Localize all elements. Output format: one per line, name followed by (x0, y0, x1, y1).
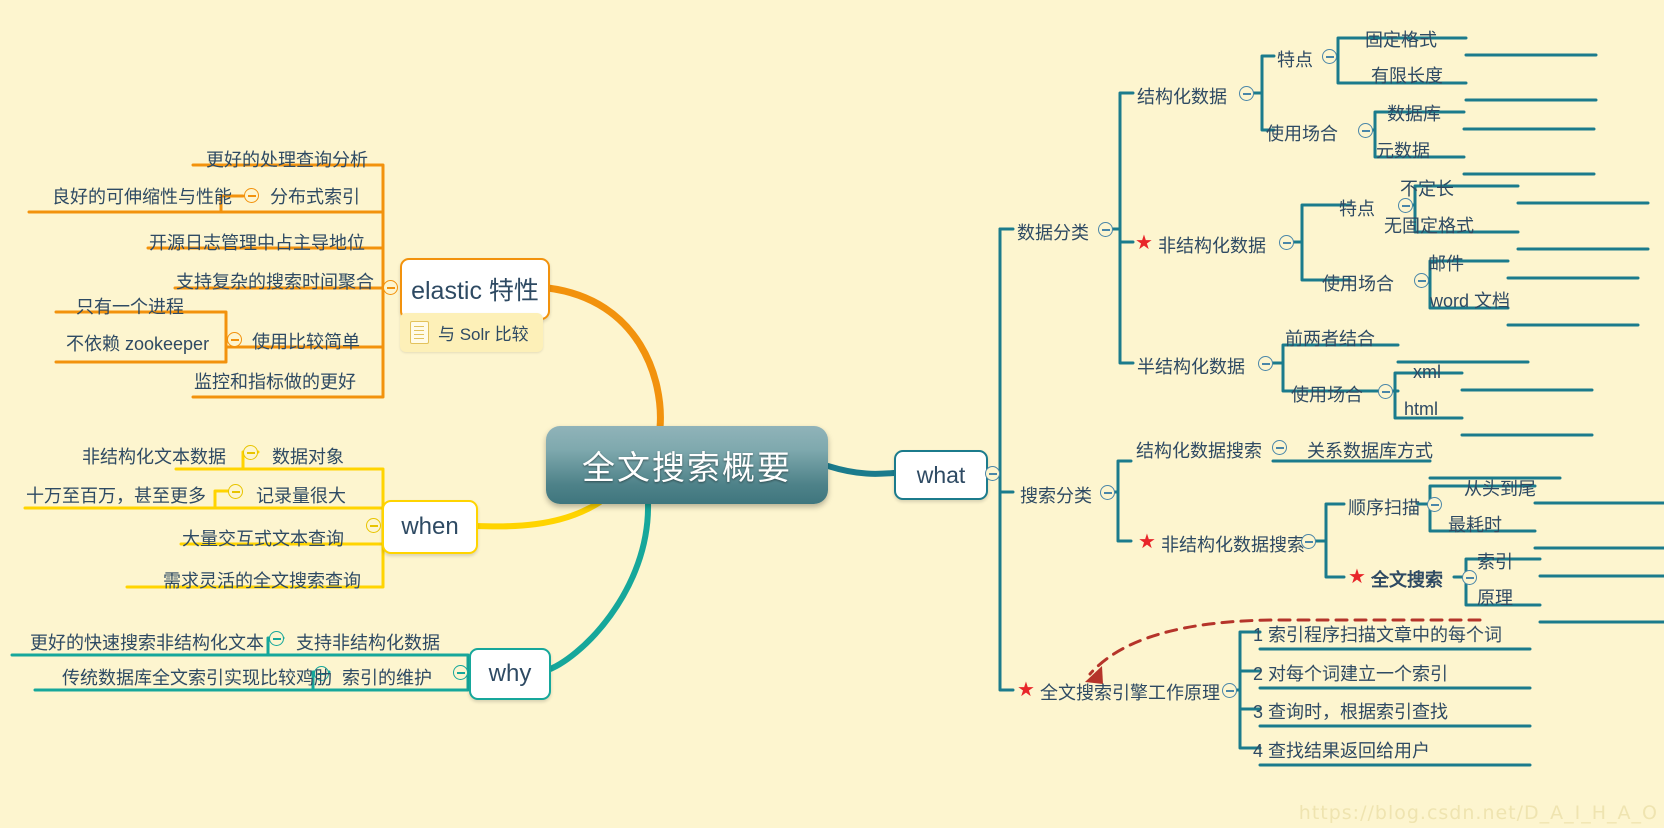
toggle-sequential-scan[interactable] (1427, 497, 1442, 512)
node-unstructured-search[interactable]: 非结构化数据搜索 (1161, 531, 1305, 557)
star-icon-unstructured-search: ★ (1138, 532, 1156, 552)
node-what[interactable]: what (894, 450, 988, 500)
node-index[interactable]: 索引 (1477, 548, 1513, 574)
node-semi-structured-data[interactable]: 半结构化数据 (1137, 353, 1245, 379)
toggle-when[interactable] (366, 518, 381, 533)
node-fulltext-search[interactable]: 全文搜索 (1371, 566, 1443, 592)
toggle-semi-structured-data[interactable] (1258, 356, 1273, 371)
node-why-child-1[interactable]: 索引的维护 (342, 664, 432, 690)
node-why-child-1-sub-0[interactable]: 传统数据库全文索引实现比较鸡肋 (62, 664, 332, 690)
node-search-classification[interactable]: 搜索分类 (1020, 482, 1092, 508)
toggle-why[interactable] (453, 665, 468, 680)
node-metadata[interactable]: 元数据 (1376, 137, 1430, 163)
star-icon-engine-principle: ★ (1017, 680, 1035, 700)
node-head-to-tail[interactable]: 从头到尾 (1464, 475, 1536, 501)
node-when-child-0-sub-0[interactable]: 非结构化文本数据 (82, 443, 226, 469)
toggle-what[interactable] (985, 466, 1000, 481)
toggle-support-unstructured[interactable] (269, 631, 284, 646)
node-database[interactable]: 数据库 (1387, 100, 1441, 126)
note-compare-solr[interactable]: 与 Solr 比较 (400, 313, 543, 352)
node-when-child-3[interactable]: 需求灵活的全文搜索查询 (163, 567, 361, 593)
watermark: https://blog.csdn.net/D_A_I_H_A_O (1299, 802, 1658, 824)
node-most-time-consuming[interactable]: 最耗时 (1448, 511, 1502, 537)
node-when-child-2[interactable]: 大量交互式文本查询 (182, 525, 344, 551)
node-unstructured-scenario[interactable]: 使用场合 (1322, 270, 1394, 296)
note-compare-solr-label: 与 Solr 比较 (438, 320, 529, 345)
node-why[interactable]: why (469, 648, 551, 700)
toggle-semi-scenario[interactable] (1378, 384, 1393, 399)
star-icon-fulltext-search: ★ (1348, 567, 1366, 587)
star-icon-unstructured-data: ★ (1135, 233, 1153, 253)
node-structured-feature[interactable]: 特点 (1277, 46, 1313, 72)
toggle-data-object[interactable] (243, 445, 258, 460)
root-label: 全文搜索概要 (582, 441, 792, 489)
toggle-unstructured-search[interactable] (1301, 534, 1316, 549)
node-unstructured-feature[interactable]: 特点 (1339, 195, 1375, 221)
node-unstructured-data[interactable]: 非结构化数据 (1158, 232, 1266, 258)
toggle-unstructured-scenario[interactable] (1414, 273, 1429, 288)
toggle-distributed-index[interactable] (244, 188, 259, 203)
node-limited-length[interactable]: 有限长度 (1371, 62, 1443, 88)
node-elastic-child-3[interactable]: 支持复杂的搜索时间聚合 (176, 268, 374, 294)
root-node[interactable]: 全文搜索概要 (546, 426, 828, 504)
node-why-child-0[interactable]: 支持非结构化数据 (296, 629, 440, 655)
node-step-2[interactable]: 2 对每个词建立一个索引 (1253, 660, 1448, 686)
node-elastic-feature-label: elastic 特性 (411, 271, 539, 307)
node-sequential-scan[interactable]: 顺序扫描 (1348, 494, 1420, 520)
node-elastic-child-5[interactable]: 监控和指标做的更好 (194, 368, 356, 394)
node-why-child-0-sub-0[interactable]: 更好的快速搜索非结构化文本 (30, 629, 264, 655)
node-elastic-child-1[interactable]: 分布式索引 (270, 183, 360, 209)
node-engine-working-principle[interactable]: 全文搜索引擎工作原理 (1040, 679, 1220, 705)
node-step-3[interactable]: 3 查询时，根据索引查找 (1253, 698, 1448, 724)
toggle-elastic[interactable] (383, 280, 398, 295)
toggle-unstructured-data[interactable] (1279, 235, 1294, 250)
document-icon (410, 321, 429, 344)
node-what-label: what (917, 462, 966, 489)
node-when[interactable]: when (382, 500, 478, 554)
node-elastic-child-4[interactable]: 使用比较简单 (252, 328, 360, 354)
toggle-data-classification[interactable] (1098, 222, 1113, 237)
toggle-record-volume[interactable] (228, 484, 243, 499)
toggle-structured-search[interactable] (1272, 440, 1287, 455)
node-semi-scenario[interactable]: 使用场合 (1291, 381, 1363, 407)
node-why-label: why (489, 660, 532, 688)
node-html[interactable]: html (1404, 399, 1438, 420)
toggle-structured-data[interactable] (1239, 86, 1254, 101)
toggle-structured-scenario[interactable] (1358, 123, 1373, 138)
node-elastic-child-1-sub-0[interactable]: 良好的可伸缩性与性能 (52, 183, 232, 209)
node-elastic-child-4-sub-1[interactable]: 不依赖 zookeeper (66, 330, 209, 356)
node-step-1[interactable]: 1 索引程序扫描文章中的每个词 (1253, 621, 1502, 647)
node-when-child-1-sub-0[interactable]: 十万至百万，甚至更多 (26, 482, 206, 508)
toggle-search-classification[interactable] (1100, 485, 1115, 500)
node-when-child-0[interactable]: 数据对象 (272, 443, 344, 469)
node-data-classification[interactable]: 数据分类 (1017, 219, 1089, 245)
node-email[interactable]: 邮件 (1428, 250, 1464, 276)
node-step-4[interactable]: 4 查找结果返回给用户 (1253, 737, 1430, 763)
toggle-structured-feature[interactable] (1322, 49, 1337, 64)
toggle-engine-working-principle[interactable] (1222, 683, 1237, 698)
node-elastic-child-4-sub-0[interactable]: 只有一个进程 (76, 293, 184, 319)
node-when-child-1[interactable]: 记录量很大 (256, 482, 346, 508)
node-elastic-child-0[interactable]: 更好的处理查询分析 (206, 146, 368, 172)
node-fixed-format[interactable]: 固定格式 (1365, 26, 1437, 52)
node-xml[interactable]: xml (1413, 362, 1441, 383)
node-no-fixed-format[interactable]: 无固定格式 (1384, 212, 1474, 238)
node-word-doc[interactable]: word 文档 (1430, 287, 1510, 313)
node-combination-of-both[interactable]: 前两者结合 (1285, 325, 1375, 351)
node-structured-data[interactable]: 结构化数据 (1137, 83, 1227, 109)
toggle-fulltext-search[interactable] (1462, 570, 1477, 585)
toggle-simple-usage[interactable] (227, 332, 242, 347)
node-structured-scenario[interactable]: 使用场合 (1266, 120, 1338, 146)
node-variable-length[interactable]: 不定长 (1400, 175, 1454, 201)
node-elastic-feature[interactable]: elastic 特性 (400, 258, 550, 320)
node-relational-db-way[interactable]: 关系数据库方式 (1307, 437, 1433, 463)
mindmap-canvas: 全文搜索概要 elastic 特性 与 Solr 比较 更好的处理查询分析 分布… (0, 0, 1664, 828)
node-principle[interactable]: 原理 (1477, 584, 1513, 610)
node-structured-search[interactable]: 结构化数据搜索 (1136, 437, 1262, 463)
node-elastic-child-2[interactable]: 开源日志管理中占主导地位 (149, 229, 365, 255)
node-when-label: when (401, 513, 458, 541)
